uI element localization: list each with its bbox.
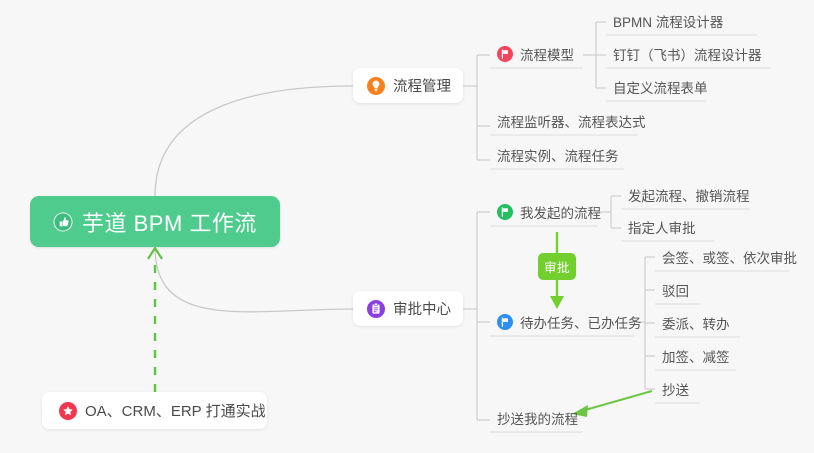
clipboard-icon — [367, 300, 385, 318]
approve-arrow-head — [550, 296, 564, 309]
leaf-label-assignee-approval: 指定人审批 — [628, 217, 696, 237]
flag-icon-blue — [497, 314, 513, 330]
bottom-node-label: OA、CRM、ERP 打通实战 — [85, 400, 266, 421]
leaf-label-my-initiated-process: 我发起的流程 — [520, 202, 601, 222]
branch-node-approval-center[interactable]: 审批中心 — [353, 291, 463, 326]
root-node[interactable]: 芋道 BPM 工作流 — [30, 196, 280, 247]
branch-label-process-management: 流程管理 — [393, 75, 451, 96]
leaf-countersign[interactable]: 会签、或签、依次审批 — [657, 247, 802, 271]
leaf-bpmn-designer[interactable]: BPMN 流程设计器 — [608, 11, 728, 35]
leaf-label-countersign: 会签、或签、依次审批 — [662, 247, 797, 267]
connector-root-to-process — [155, 86, 353, 196]
leaf-dingtalk-feishu-designer[interactable]: 钉钉（飞书）流程设计器 — [608, 44, 767, 68]
leaf-label-process-instance: 流程实例、流程任务 — [497, 145, 619, 165]
flag-icon-red — [497, 46, 513, 62]
branch-node-process-management[interactable]: 流程管理 — [353, 68, 463, 103]
root-node-label: 芋道 BPM 工作流 — [82, 206, 257, 238]
leaf-add-remove-sign[interactable]: 加签、减签 — [657, 346, 735, 370]
leaf-process-listener[interactable]: 流程监听器、流程表达式 — [492, 111, 651, 135]
leaf-my-initiated-process[interactable]: 我发起的流程 — [492, 202, 606, 226]
cc-arrow-line — [578, 391, 652, 412]
leaf-label-process-model: 流程模型 — [520, 44, 574, 64]
leaf-label-bpmn-designer: BPMN 流程设计器 — [613, 11, 723, 31]
leaf-label-add-remove-sign: 加签、减签 — [662, 346, 730, 366]
leaf-label-cc: 抄送 — [662, 379, 689, 399]
thumbs-up-icon — [53, 212, 73, 232]
approve-arrow-tag: 审批 — [538, 253, 576, 280]
star-icon — [59, 402, 77, 420]
bottom-dashed-arrow-head — [148, 248, 162, 259]
leaf-label-delegate-transfer: 委派、转办 — [662, 313, 730, 333]
leaf-process-instance[interactable]: 流程实例、流程任务 — [492, 145, 624, 169]
leaf-cc[interactable]: 抄送 — [657, 379, 694, 403]
leaf-reject[interactable]: 驳回 — [657, 280, 694, 304]
leaf-label-process-listener: 流程监听器、流程表达式 — [497, 111, 646, 131]
leaf-delegate-transfer[interactable]: 委派、转办 — [657, 313, 735, 337]
leaf-assignee-approval[interactable]: 指定人审批 — [623, 217, 701, 241]
leaf-label-custom-process-form: 自定义流程表单 — [613, 77, 708, 97]
leaf-label-dingtalk-feishu-designer: 钉钉（飞书）流程设计器 — [613, 44, 762, 64]
mindmap-canvas: 芋道 BPM 工作流 流程管理 审批中心 — [0, 0, 814, 453]
leaf-label-cc-to-me: 抄送我的流程 — [497, 408, 578, 428]
connector-root-to-approval — [155, 247, 353, 312]
approve-arrow-tag-label: 审批 — [544, 257, 570, 276]
leaf-process-model[interactable]: 流程模型 — [492, 44, 579, 68]
leaf-custom-process-form[interactable]: 自定义流程表单 — [608, 77, 713, 101]
branch-label-approval-center: 审批中心 — [393, 298, 451, 319]
leaf-todo-done-tasks[interactable]: 待办任务、已办任务 — [492, 312, 647, 336]
flag-icon-green — [497, 204, 513, 220]
leaf-label-reject: 驳回 — [662, 280, 689, 300]
leaf-label-todo-done-tasks: 待办任务、已办任务 — [520, 312, 642, 332]
bottom-node-oa-crm-erp[interactable]: OA、CRM、ERP 打通实战 — [42, 392, 267, 429]
leaf-label-start-cancel-process: 发起流程、撤销流程 — [628, 185, 750, 205]
leaf-cc-to-me[interactable]: 抄送我的流程 — [492, 408, 583, 432]
leaf-start-cancel-process[interactable]: 发起流程、撤销流程 — [623, 185, 755, 209]
lightbulb-icon — [367, 77, 385, 95]
